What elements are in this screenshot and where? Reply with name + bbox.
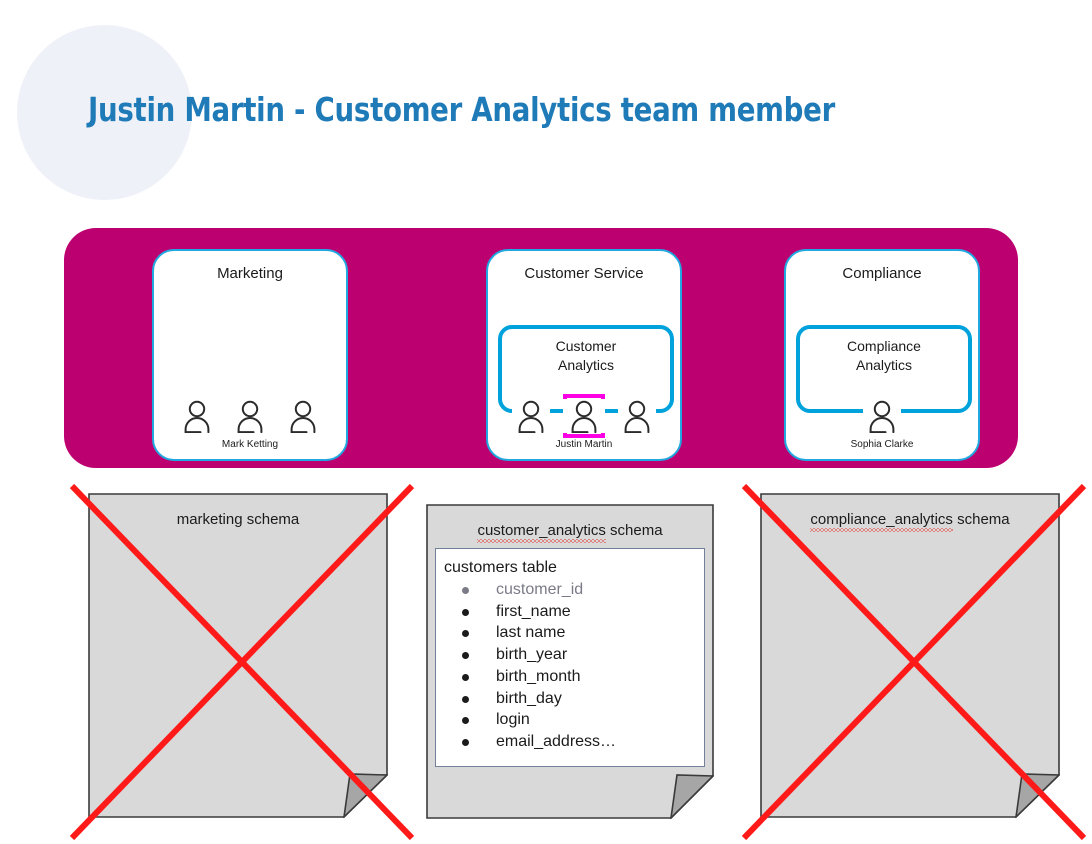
slide-canvas: Justin Martin - Customer Analytics team … [0, 0, 1092, 844]
member-name: Justin Martin [488, 439, 680, 450]
table-definition-box[interactable]: customers table customer_id first_name l… [435, 548, 705, 767]
field-item[interactable]: email_address… [458, 731, 704, 753]
analytics-team-label: Compliance Analytics [800, 337, 968, 375]
schema-title: customer_analytics schema [426, 522, 714, 540]
document-shape [760, 493, 1060, 818]
analytics-team-label-line1: Compliance [847, 338, 921, 354]
department-card-marketing[interactable]: Marketing [152, 249, 348, 461]
schema-title: compliance_analytics schema [760, 511, 1060, 529]
field-item[interactable]: last name [458, 622, 704, 644]
schema-title-text: marketing schema [177, 511, 300, 528]
member-name: Mark Ketting [154, 439, 346, 450]
schema-document-marketing[interactable]: marketing schema [88, 493, 388, 818]
member-name: Sophia Clarke [786, 439, 978, 450]
analytics-team-label-line1: Customer [556, 338, 617, 354]
person-icon[interactable] [621, 399, 653, 433]
field-item[interactable]: birth_day [458, 688, 704, 710]
field-item[interactable]: birth_month [458, 666, 704, 688]
schema-title-plain-part: schema [606, 522, 663, 539]
person-icon[interactable] [866, 399, 898, 433]
analytics-team-label-line2: Analytics [856, 357, 912, 373]
department-title: Marketing [154, 265, 346, 282]
schema-document-compliance-analytics[interactable]: compliance_analytics schema [760, 493, 1060, 818]
field-item[interactable]: birth_year [458, 644, 704, 666]
people-row [786, 399, 978, 433]
field-item[interactable]: customer_id [458, 579, 704, 601]
field-list: customer_id first_name last name birth_y… [436, 579, 704, 753]
person-icon[interactable] [181, 399, 213, 433]
department-title: Compliance [786, 265, 978, 282]
person-icon[interactable] [287, 399, 319, 433]
table-name: customers table [444, 559, 704, 577]
department-card-compliance[interactable]: Compliance Compliance Analytics Sophia C… [784, 249, 980, 461]
schema-title: marketing schema [88, 511, 388, 528]
page-title: Justin Martin - Customer Analytics team … [88, 90, 835, 129]
person-icon[interactable] [234, 399, 266, 433]
document-shape [88, 493, 388, 818]
field-item[interactable]: first_name [458, 601, 704, 623]
department-title: Customer Service [488, 265, 680, 282]
schema-title-plain-part: schema [953, 511, 1010, 528]
person-icon-highlighted-justin-martin[interactable] [568, 399, 600, 433]
people-row [154, 399, 346, 433]
field-item[interactable]: login [458, 709, 704, 731]
schema-title-misspelled-part: compliance_analytics [810, 511, 953, 529]
schema-document-customer-analytics[interactable]: customer_analytics schema customers tabl… [426, 504, 714, 819]
department-card-customer-service[interactable]: Customer Service Customer Analytics [486, 249, 682, 461]
analytics-team-label: Customer Analytics [502, 337, 670, 375]
person-icon[interactable] [515, 399, 547, 433]
schema-title-misspelled-part: customer_analytics [477, 522, 605, 540]
people-row [488, 399, 680, 433]
analytics-team-label-line2: Analytics [558, 357, 614, 373]
